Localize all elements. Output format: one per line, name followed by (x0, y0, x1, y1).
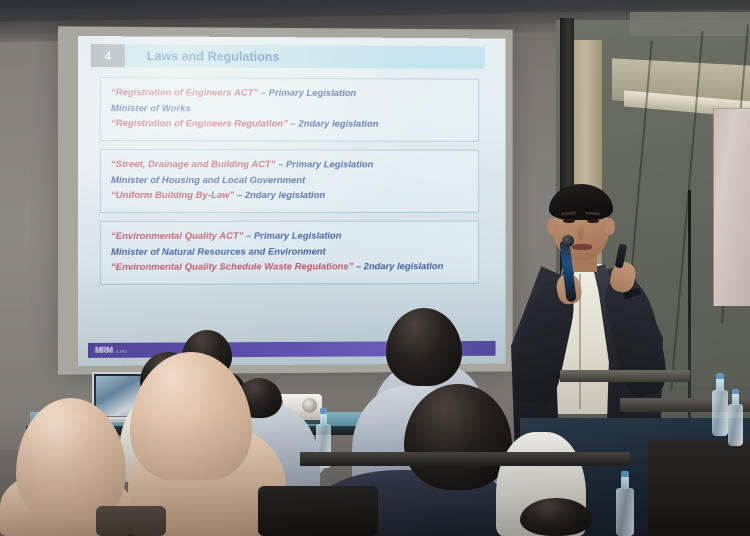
water-bottle (712, 390, 728, 436)
chair-back (96, 506, 166, 536)
table-mid-right (560, 370, 690, 382)
presentation-photo-scene: 4 Laws and Regulations “Registration of … (0, 0, 750, 536)
water-bottle (728, 404, 743, 446)
audience-head (404, 384, 512, 490)
audience-head (386, 308, 462, 386)
water-bottle (616, 488, 634, 536)
foreground-layer (0, 0, 750, 536)
audience-head (520, 498, 592, 536)
projector-lens (302, 398, 317, 413)
chair-back (258, 486, 378, 536)
table-front-row (300, 452, 630, 466)
table-right-front (648, 440, 750, 536)
